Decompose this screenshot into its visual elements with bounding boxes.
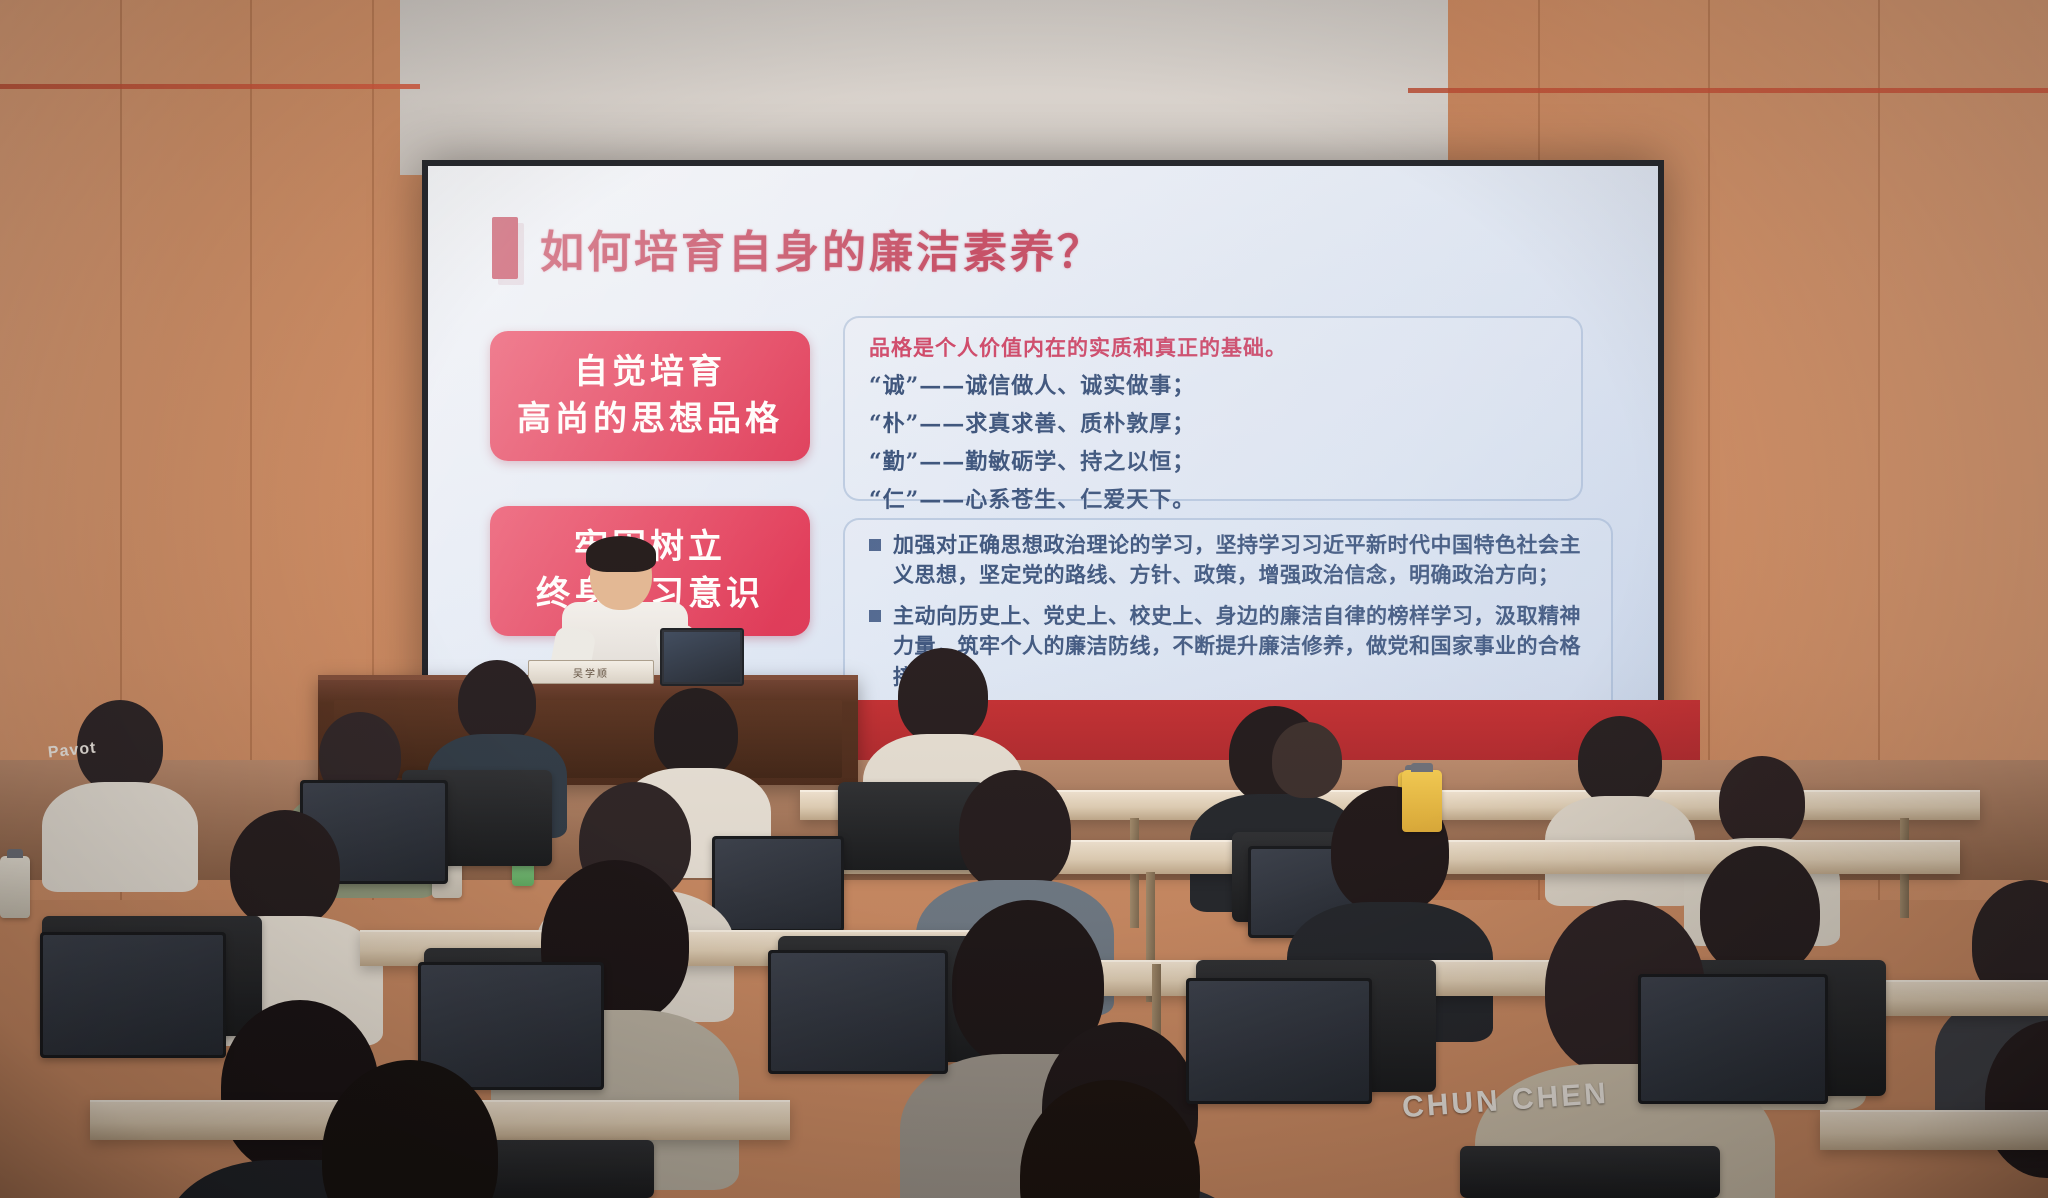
title-marker-icon (492, 217, 518, 279)
slide-pill-1-line1: 自觉培育 (574, 349, 726, 396)
water-bottle[interactable] (0, 856, 30, 918)
wall-center-upper (400, 0, 1448, 175)
square-bullet-icon (869, 610, 881, 622)
podium-laptop (660, 628, 744, 686)
card-one-line: “勤”——勤敏砺学、持之以恒； (845, 438, 1581, 476)
desktop-monitor[interactable] (1638, 974, 1828, 1104)
student (300, 1060, 520, 1198)
desk-row (1820, 1110, 2048, 1150)
slide-title-row: 如何培育自身的廉洁素养？ (492, 216, 1104, 280)
desktop-monitor[interactable] (768, 950, 948, 1074)
slide-pill-1: 自觉培育 高尚的思想品格 (490, 331, 810, 461)
wall-accent-stripe (1408, 88, 2048, 93)
slide-card-one: 品格是个人价值内在的实质和真正的基础。 “诚”——诚信做人、诚实做事； “朴”—… (843, 316, 1583, 501)
desktop-monitor[interactable] (40, 932, 226, 1058)
student (1980, 1020, 2048, 1198)
desktop-monitor[interactable] (712, 836, 844, 932)
card-two-bullet: 加强对正确思想政治理论的学习，坚持学习习近平新时代中国特色社会主义思想，坚定党的… (893, 530, 1593, 591)
lecture-hall-photo: 如何培育自身的廉洁素养？ 自觉培育 高尚的思想品格 牢固树立 终身学习意识 品格… (0, 0, 2048, 1198)
card-one-heading: 品格是个人价值内在的实质和真正的基础。 (845, 318, 1581, 362)
student (60, 700, 180, 880)
card-one-line: “仁”——心系苍生、仁爱天下。 (845, 476, 1581, 514)
square-bullet-icon (869, 539, 881, 551)
wall-accent-stripe (0, 84, 420, 89)
card-one-line: “朴”——求真求善、质朴敦厚； (845, 400, 1581, 438)
card-one-line: “诚”——诚信做人、诚实做事； (845, 362, 1581, 400)
slide-pill-1-line2: 高尚的思想品格 (517, 396, 783, 443)
student (1000, 1080, 1220, 1198)
water-bottle[interactable] (1402, 770, 1442, 832)
list-item: 加强对正确思想政治理论的学习，坚持学习习近平新时代中国特色社会主义思想，坚定党的… (845, 520, 1611, 591)
page-title: 如何培育自身的廉洁素养？ (540, 216, 1104, 280)
chair-back (1460, 1146, 1720, 1198)
